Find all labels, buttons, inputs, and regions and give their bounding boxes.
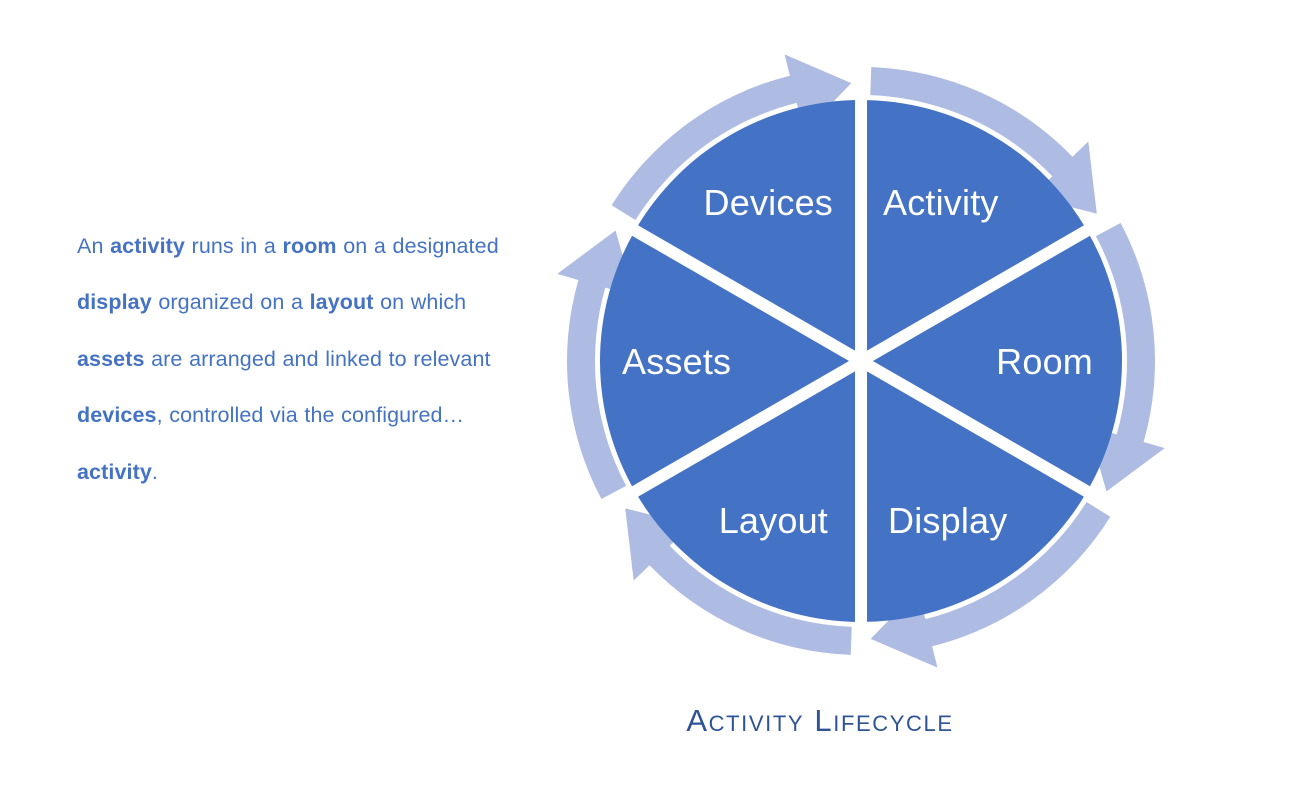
activity-lifecycle-cycle-diagram: ActivityRoomDisplayLayoutAssetsDevices (0, 0, 1300, 811)
sector-label-layout: Layout (719, 500, 828, 541)
sector-label-devices: Devices (704, 182, 833, 223)
sector-label-room: Room (996, 341, 1093, 382)
sector-label-display: Display (888, 500, 1007, 541)
sector-label-activity: Activity (883, 182, 999, 223)
diagram-title: Activity Lifecycle (560, 703, 1080, 739)
sector-label-assets: Assets (622, 341, 731, 382)
